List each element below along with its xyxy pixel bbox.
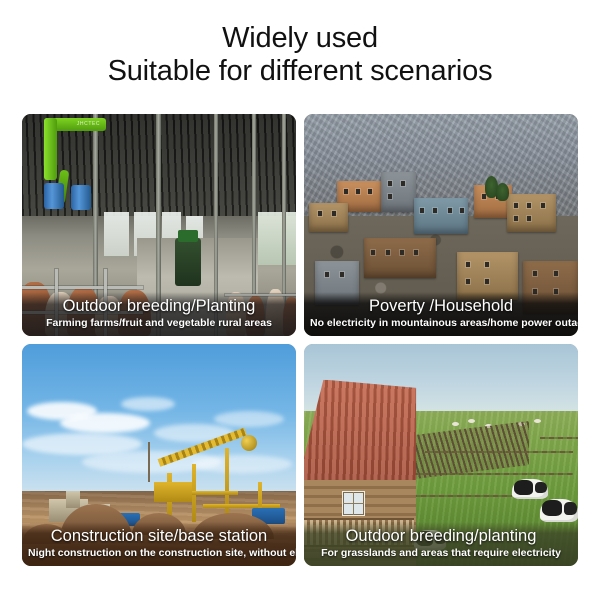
card-caption: Outdoor breeding/planting For grasslands… bbox=[304, 522, 578, 566]
scenario-card-outdoor-breeding-grassland[interactable]: Outdoor breeding/planting For grasslands… bbox=[304, 344, 578, 566]
roof-icon bbox=[304, 380, 416, 484]
scenario-card-poverty-household[interactable]: Poverty /Household No electricity in mou… bbox=[304, 114, 578, 336]
green-crane-column-icon bbox=[44, 118, 57, 180]
page-title-line-1: Widely used bbox=[0, 22, 600, 55]
card-title: Outdoor breeding/Planting bbox=[28, 296, 290, 316]
card-subtitle: No electricity in mountainous areas/home… bbox=[310, 316, 572, 330]
equipment-brand-label: JHCTEC bbox=[77, 121, 100, 127]
cow-icon bbox=[512, 479, 548, 499]
card-title: Poverty /Household bbox=[310, 296, 572, 316]
card-caption: Poverty /Household No electricity in mou… bbox=[304, 292, 578, 336]
scenario-grid: JHCTEC bbox=[22, 114, 578, 579]
cow-icon bbox=[540, 499, 578, 521]
card-title: Outdoor breeding/planting bbox=[310, 526, 572, 546]
card-subtitle: Night construction on the construction s… bbox=[28, 546, 290, 560]
card-caption: Outdoor breeding/Planting Farming farms/… bbox=[22, 292, 296, 336]
blue-barrel-left-icon bbox=[44, 183, 64, 209]
scenario-card-construction-site[interactable]: Construction site/base station Night con… bbox=[22, 344, 296, 566]
blue-barrel-right-icon bbox=[71, 185, 91, 210]
promo-banner: Widely used Suitable for different scena… bbox=[0, 0, 600, 600]
card-caption: Construction site/base station Night con… bbox=[22, 522, 296, 566]
page-title: Widely used Suitable for different scena… bbox=[0, 0, 600, 88]
scenario-card-outdoor-breeding-planting[interactable]: JHCTEC bbox=[22, 114, 296, 336]
page-title-line-2: Suitable for different scenarios bbox=[0, 55, 600, 88]
card-title: Construction site/base station bbox=[28, 526, 290, 546]
house-window-icon bbox=[342, 491, 364, 515]
card-subtitle: For grasslands and areas that require el… bbox=[310, 546, 572, 560]
card-subtitle: Farming farms/fruit and vegetable rural … bbox=[28, 316, 290, 330]
